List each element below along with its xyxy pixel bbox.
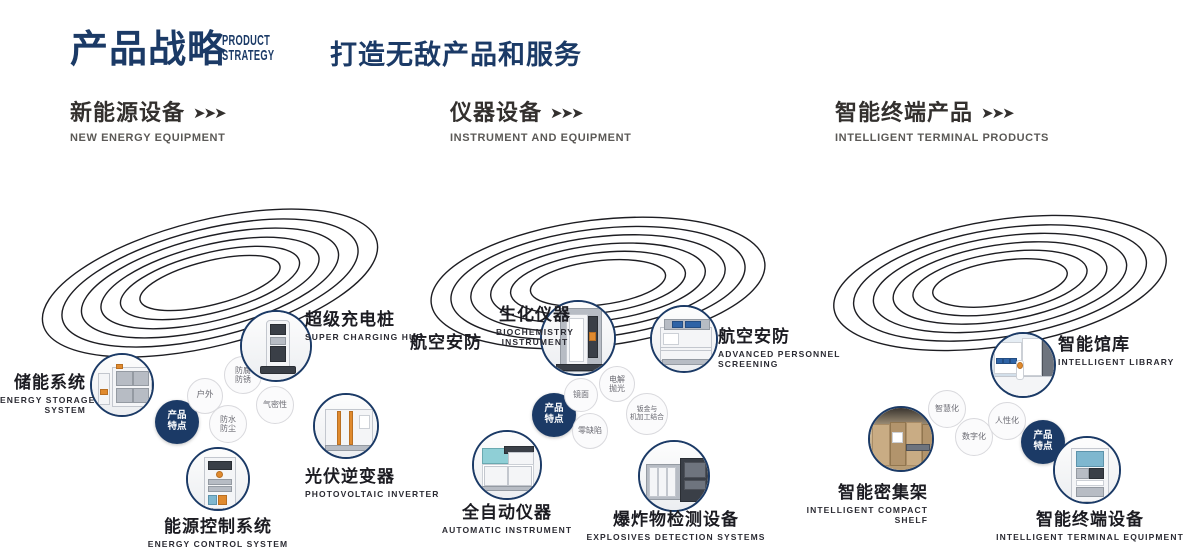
label-photovoltaic-inverter: 光伏逆变器 PHOTOVOLTAIC INVERTER — [305, 462, 440, 499]
node-label-cn: 光伏逆变器 — [305, 462, 440, 487]
node-energy-storage-system[interactable] — [90, 353, 154, 417]
label-biochemistry-instrument: 生化仪器 BIOCHEMISTRYINSTRUMENT — [462, 300, 608, 347]
feature-bubble-label: 人性化 — [995, 416, 1019, 425]
page-header: 产品战略 PRODUCT STRATEGY 打造无敌产品和服务 — [0, 0, 1200, 90]
node-label-en: INTELLIGENT TERMINAL EQUIPMENT — [990, 532, 1190, 542]
label-energy-control-system: 能源控制系统 ENERGY CONTROL SYSTEM — [88, 512, 348, 549]
page-title: 产品战略 — [70, 26, 226, 72]
feature-bubble-label: 零缺陷 — [578, 426, 602, 435]
cluster-intelligent-terminal-products: 智慧化 数字化 人性化 产品特点 智能馆库 — [800, 150, 1200, 415]
charging-pile-icon — [242, 312, 310, 380]
cluster-instrument-and-equipment: 产品特点 镜面 电解抛光 零缺陷 钣金与机加工结合 航空安防 — [400, 150, 800, 415]
battery-cabinet-icon — [92, 355, 152, 415]
product-strategy-infographic: 产品战略 PRODUCT STRATEGY 打造无敌产品和服务 新能源设备➤➤➤… — [0, 0, 1200, 422]
section-title-en: INTELLIGENT TERMINAL PRODUCTS — [835, 132, 1049, 144]
feature-bubble-airtight: 气密性 — [256, 386, 294, 424]
node-label-cn: 全自动仪器 — [412, 498, 602, 523]
automatic-analyzer-icon — [474, 432, 540, 498]
chevron-right-icon: ➤➤➤ — [550, 104, 582, 122]
node-label-en: BIOCHEMISTRYINSTRUMENT — [462, 327, 608, 347]
feature-bubble-waterproof: 防水防尘 — [209, 405, 247, 443]
node-label-en: EXPLOSIVES DETECTION SYSTEMS — [578, 532, 774, 542]
page-title-english-line1: PRODUCT — [222, 33, 274, 48]
inverter-cabinet-icon — [315, 395, 377, 457]
node-label-cn: 能源控制系统 — [88, 512, 348, 537]
feature-bubble-sheetmetal-machining: 钣金与机加工结合 — [626, 393, 668, 435]
chevron-right-icon: ➤➤➤ — [981, 104, 1013, 122]
feature-bubble-label: 防水防尘 — [220, 415, 236, 433]
label-intelligent-compact-shelf: 智能密集架 INTELLIGENT COMPACTSHELF — [800, 478, 928, 525]
label-explosives-detection-systems: 爆炸物检测设备 EXPLOSIVES DETECTION SYSTEMS — [578, 505, 774, 542]
node-super-charging-hub[interactable] — [240, 310, 312, 382]
node-label-cn: 爆炸物检测设备 — [578, 505, 774, 530]
node-intelligent-library[interactable] — [990, 332, 1056, 398]
page-title-english-line2: STRATEGY — [222, 48, 274, 63]
node-intelligent-terminal-equipment[interactable] — [1053, 436, 1121, 504]
feature-bubble-label: 气密性 — [263, 400, 287, 409]
section-title-cn: 仪器设备 — [450, 101, 542, 126]
label-intelligent-terminal-equipment: 智能终端设备 INTELLIGENT TERMINAL EQUIPMENT — [990, 505, 1190, 542]
node-label-cn: 智能馆库 — [1058, 330, 1174, 355]
section-title-cn: 新能源设备 — [70, 101, 185, 126]
compact-shelf-icon — [870, 408, 932, 470]
node-intelligent-compact-shelf[interactable] — [868, 406, 934, 472]
core-bubble-label: 产品特点 — [1033, 431, 1052, 453]
node-explosives-detection-systems[interactable] — [638, 440, 710, 512]
section-title-en: NEW ENERGY EQUIPMENT — [70, 132, 225, 144]
library-room-icon — [992, 334, 1054, 396]
feature-bubble-label: 电解抛光 — [609, 375, 625, 393]
node-advanced-personnel-screening[interactable] — [650, 305, 718, 373]
node-label-cn: 智能密集架 — [800, 478, 928, 503]
feature-bubble-label: 智慧化 — [935, 404, 959, 413]
explosives-detector-icon — [640, 442, 708, 510]
control-cabinet-icon — [188, 449, 248, 509]
section-title-new-energy: 新能源设备➤➤➤ NEW ENERGY EQUIPMENT — [70, 95, 225, 144]
core-bubble-label: 产品特点 — [544, 404, 563, 426]
node-label-cn: 储能系统 — [0, 368, 86, 393]
feature-bubble-label: 数字化 — [962, 432, 986, 441]
screening-machine-icon — [652, 307, 716, 371]
node-label-en: INTELLIGENT COMPACTSHELF — [800, 505, 928, 525]
node-label-en: ENERGY STORAGESYSTEM — [0, 395, 86, 415]
node-photovoltaic-inverter[interactable] — [313, 393, 379, 459]
node-label-en: ENERGY CONTROL SYSTEM — [88, 539, 348, 549]
section-title-en: INSTRUMENT AND EQUIPMENT — [450, 132, 631, 144]
label-intelligent-library: 智能馆库 INTELLIGENT LIBRARY — [1058, 330, 1174, 367]
section-title-cn: 智能终端产品 — [835, 101, 973, 126]
feature-bubble-label: 钣金与机加工结合 — [630, 406, 664, 422]
node-label-en: AUTOMATIC INSTRUMENT — [412, 525, 602, 535]
section-title-intelligent-terminal: 智能终端产品➤➤➤ INTELLIGENT TERMINAL PRODUCTS — [835, 95, 1049, 144]
chevron-right-icon: ➤➤➤ — [193, 104, 225, 122]
feature-bubble-label: 户外 — [196, 391, 213, 401]
node-label-en: INTELLIGENT LIBRARY — [1058, 357, 1174, 367]
node-label-cn: 生化仪器 — [462, 300, 608, 325]
label-automatic-instrument: 全自动仪器 AUTOMATIC INSTRUMENT — [412, 498, 602, 535]
feature-bubble-humanized: 人性化 — [988, 402, 1026, 440]
page-subtitle: 打造无敌产品和服务 — [330, 33, 582, 72]
label-energy-storage-system: 储能系统 ENERGY STORAGESYSTEM — [0, 368, 86, 415]
self-service-kiosk-icon — [1055, 438, 1119, 502]
node-energy-control-system[interactable] — [186, 447, 250, 511]
feature-bubble-zero-defect: 零缺陷 — [572, 413, 608, 449]
node-label-cn: 智能终端设备 — [990, 505, 1190, 530]
section-title-instrument: 仪器设备➤➤➤ INSTRUMENT AND EQUIPMENT — [450, 95, 631, 144]
feature-bubble-label: 镜面 — [573, 390, 589, 399]
page-title-english: PRODUCT STRATEGY — [222, 33, 274, 63]
feature-bubble-mirror-finish: 镜面 — [564, 378, 598, 412]
cluster-new-energy-equipment: 产品特点 户外 防腐防锈 防水防尘 气密性 — [0, 150, 420, 415]
core-bubble-label: 产品特点 — [167, 411, 186, 433]
node-automatic-instrument[interactable] — [472, 430, 542, 500]
